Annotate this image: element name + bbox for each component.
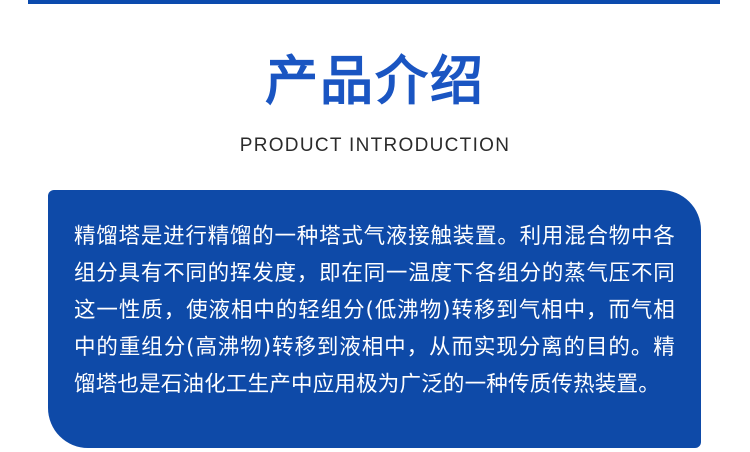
- page-subtitle: PRODUCT INTRODUCTION: [0, 134, 750, 158]
- description-text: 精馏塔是进行精馏的一种塔式气液接触装置。利用混合物中各组分具有不同的挥发度，即在…: [74, 218, 675, 403]
- top-divider-rule: [28, 0, 720, 4]
- description-panel: 精馏塔是进行精馏的一种塔式气液接触装置。利用混合物中各组分具有不同的挥发度，即在…: [48, 190, 701, 448]
- section-heading: 产品介绍 PRODUCT INTRODUCTION: [0, 52, 750, 158]
- product-introduction-page: 产品介绍 PRODUCT INTRODUCTION 精馏塔是进行精馏的一种塔式气…: [0, 0, 750, 452]
- page-title: 产品介绍: [0, 52, 750, 112]
